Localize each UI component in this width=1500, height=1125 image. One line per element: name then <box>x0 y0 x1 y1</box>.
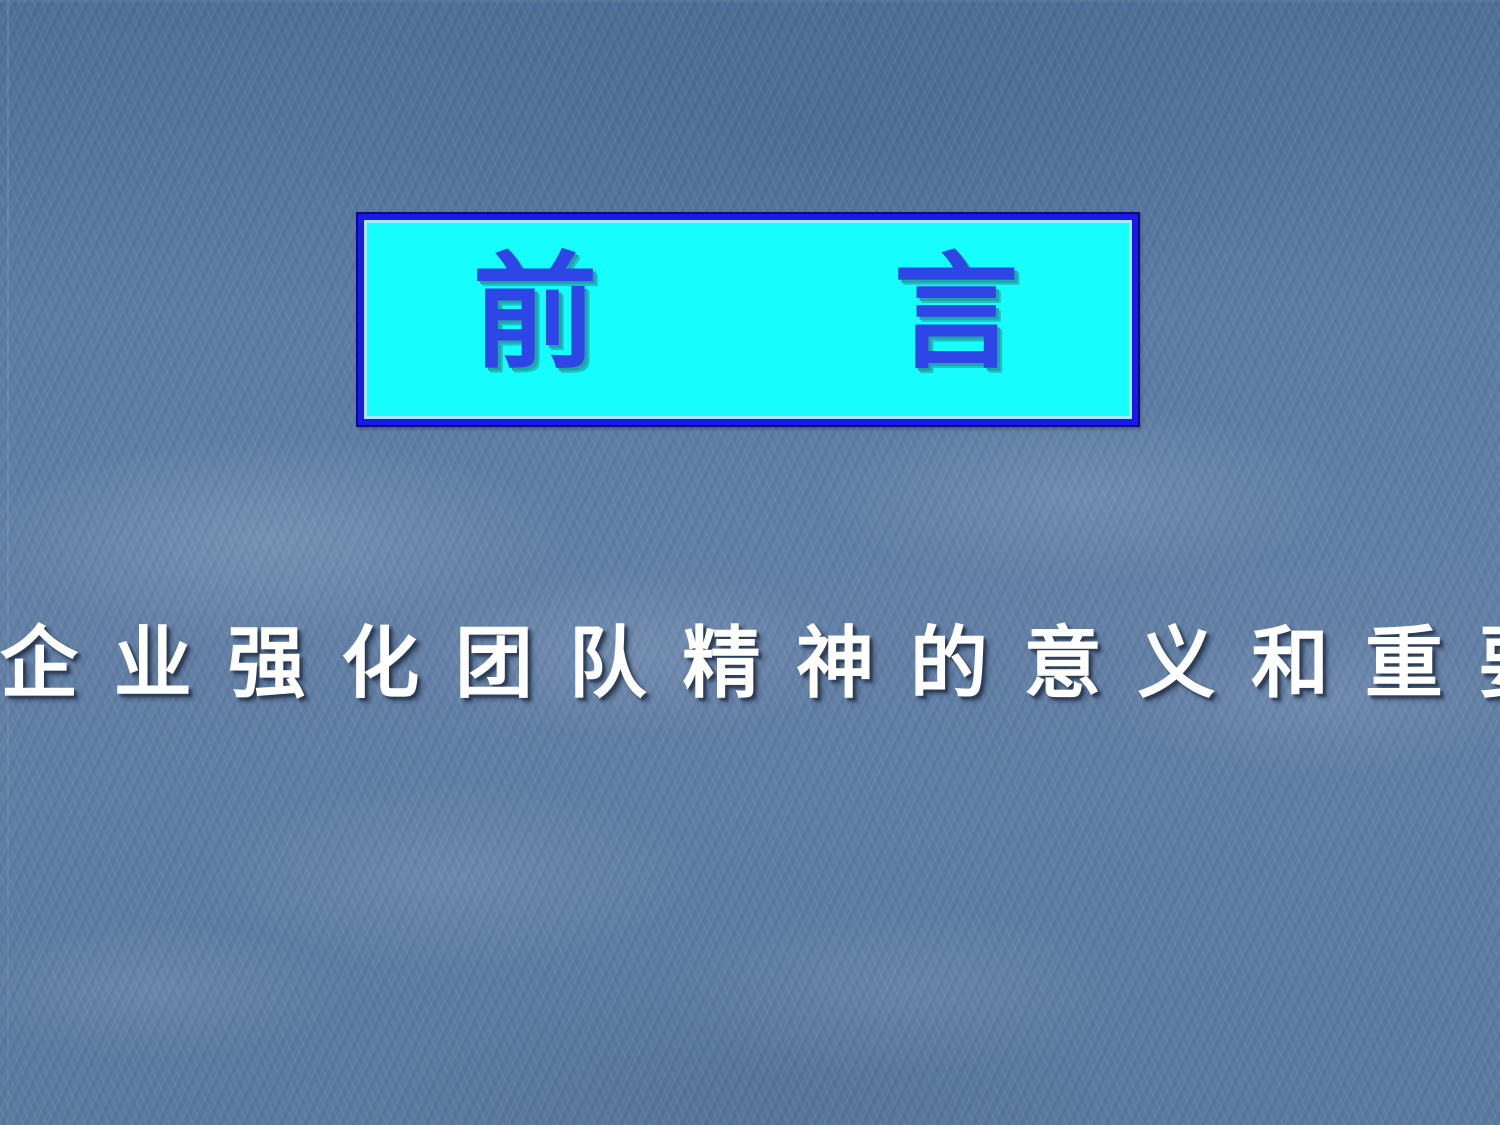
slide-left-edge-seam <box>7 0 9 1125</box>
slide-subtitle: 企 业 强 化 团 队 精 神 的 意 义 和 重 要 性 <box>0 625 1500 703</box>
title-plate-inner: 前 言 <box>364 220 1132 419</box>
presentation-slide: 前 言 企 业 强 化 团 队 精 神 的 意 义 和 重 要 性 <box>0 0 1500 1125</box>
title-plate: 前 言 <box>356 212 1140 427</box>
slide-title: 前 言 <box>472 251 1023 376</box>
slide-top-edge-seam <box>0 0 1500 2</box>
